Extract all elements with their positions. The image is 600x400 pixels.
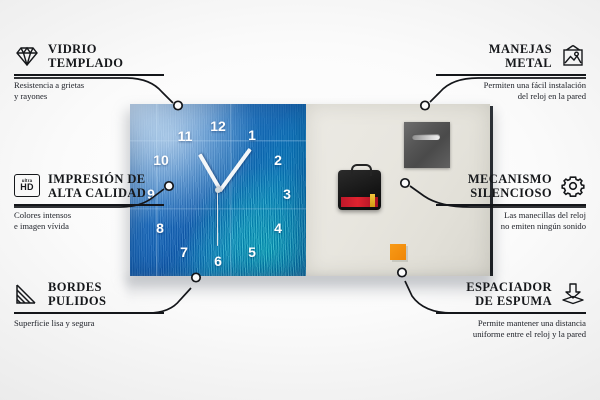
feature-description: Colores intensos e imagen vívida [14,210,164,232]
clock-center-pin [215,187,221,193]
feature-espaciador-de-espuma: ESPACIADOR DE ESPUMA Permite mantener un… [436,280,586,340]
feature-description: Resistencia a grietas y rayones [14,80,164,102]
clock-numeral-1: 1 [248,128,256,142]
feature-rule [436,74,586,76]
feature-description: Las manecillas del reloj no emiten ningú… [436,210,586,232]
movement-label [341,197,378,207]
movement-hook [351,164,372,176]
hanger-slot [412,134,440,140]
clock-numeral-6: 6 [214,254,222,268]
clock-numeral-7: 7 [180,245,188,259]
feature-description: Permite mantener una distancia uniforme … [436,318,586,340]
foam-spacer-pad [390,244,406,260]
feature-mecanismo-silencioso: MECANISMO SILENCIOSO Las manecillas del … [436,172,586,232]
diamond-icon [14,44,40,68]
feature-title: IMPRESIÓN DE ALTA CALIDAD [48,172,146,200]
feature-title: VIDRIO TEMPLADO [48,42,123,70]
feature-manejas-metal: MANEJAS METAL Permiten una fácil instala… [436,42,586,102]
feature-description: Superficie lisa y segura [14,318,164,329]
infographic-canvas: 12 1 2 3 4 5 6 7 8 9 10 11 [0,0,600,400]
feature-impresion-alta-calidad: ultra HD IMPRESIÓN DE ALTA CALIDAD Color… [14,172,164,232]
feature-title: MECANISMO SILENCIOSO [468,172,552,200]
feature-rule [436,204,586,206]
ultra-hd-icon: ultra HD [14,174,40,198]
clock-second-hand [217,190,218,246]
foam-spacer-arrow-icon [560,282,586,306]
clock-numeral-4: 4 [274,221,282,235]
metal-hanger-plate [404,122,450,168]
clock-movement-mechanism [338,170,381,210]
feature-rule [14,204,164,206]
clock-numeral-3: 3 [283,187,291,201]
picture-hanger-icon [560,44,586,68]
gear-icon [560,174,586,198]
clock-numeral-5: 5 [248,245,256,259]
feature-title: BORDES PULIDOS [48,280,106,308]
feature-bordes-pulidos: BORDES PULIDOS Superficie lisa y segura [14,280,164,329]
feature-title: ESPACIADOR DE ESPUMA [466,280,552,308]
feature-rule [436,312,586,314]
clock-numeral-10: 10 [153,153,169,167]
feature-description: Permiten una fácil instalación del reloj… [436,80,586,102]
clock-numeral-2: 2 [274,153,282,167]
clock-numeral-12: 12 [210,119,226,133]
ultra-hd-icon-main-text: HD [20,183,33,192]
feature-rule [14,312,164,314]
clock-numeral-11: 11 [178,129,193,143]
feature-title: MANEJAS METAL [489,42,552,70]
polished-edge-icon [14,282,40,306]
feature-vidrio-templado: VIDRIO TEMPLADO Resistencia a grietas y … [14,42,164,102]
feature-rule [14,74,164,76]
